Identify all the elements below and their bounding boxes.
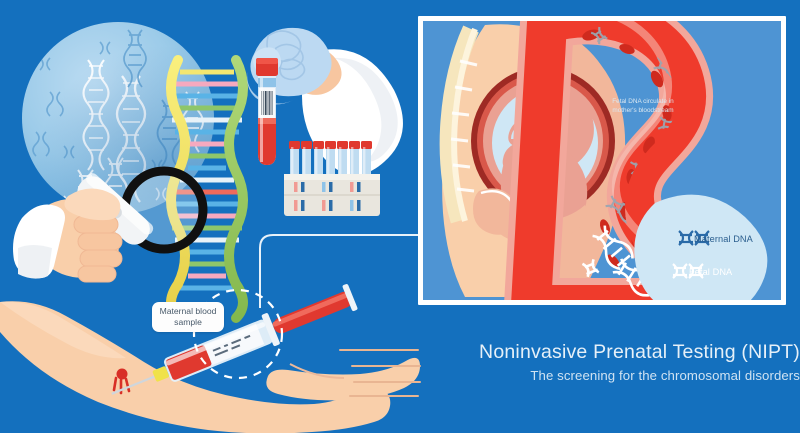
legend-maternal-dna-label: Maternal DNA <box>694 234 753 244</box>
blood-vessel-icon <box>571 21 781 300</box>
nipt-diagram-panel: Fetal DNA circulate in mother's bloodstr… <box>418 16 786 305</box>
test-tube-rack-icon <box>284 138 394 238</box>
vessel-note-label: Fetal DNA circulate in mother's bloodstr… <box>603 97 683 116</box>
infographic-canvas: Maternal blood sample <box>0 0 800 433</box>
page-title: Noninvasive Prenatal Testing (NIPT) <box>455 340 800 364</box>
dna-legend-bubble <box>634 195 767 300</box>
panel-inner: Fetal DNA circulate in mother's bloodstr… <box>423 21 781 300</box>
legend-fetal-dna-label: Fetal DNA <box>689 267 732 277</box>
page-subtitle: The screening for the chromosomal disord… <box>455 368 800 383</box>
magnifying-glass-icon[interactable] <box>16 160 236 300</box>
title-block: Noninvasive Prenatal Testing (NIPT) The … <box>455 340 800 383</box>
test-tube-icon <box>256 58 278 165</box>
maternal-blood-sample-label: Maternal blood sample <box>152 302 224 332</box>
